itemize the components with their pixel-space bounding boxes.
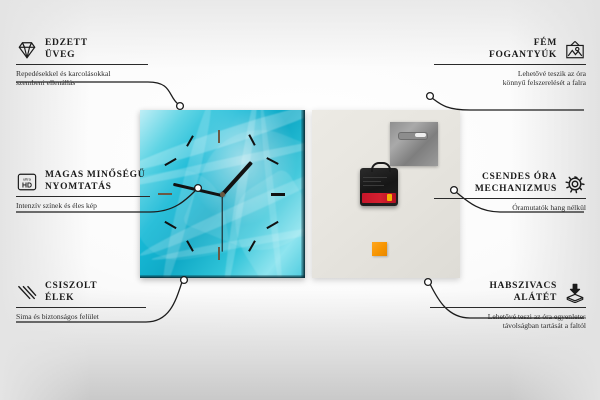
wire-endpoint-dot xyxy=(427,93,434,100)
diamond-icon xyxy=(16,40,38,60)
callout-divider xyxy=(16,196,150,197)
infographic-canvas: EDZETT ÜVEG Repedésekkel és karcolásokka… xyxy=(0,0,600,400)
callout-csendes-ora-mechanizmus: CSENDES ÓRA MECHANIZMUS Óramutatók hang … xyxy=(434,172,586,212)
clock-center-pin xyxy=(220,192,225,197)
callout-divider xyxy=(434,198,586,199)
mechanism-battery-label xyxy=(362,193,396,203)
clock-tick xyxy=(158,193,172,195)
callout-header: ultra HD MAGAS MINŐSÉGŰ NYOMTATÁS xyxy=(16,170,150,193)
callout-title: FÉM FOGANTYÚK xyxy=(489,38,557,61)
callout-description: Lehetővé teszi az óra egyenletes távolsá… xyxy=(430,312,586,331)
svg-text:HD: HD xyxy=(22,182,32,189)
picture-hanger-icon xyxy=(564,40,586,60)
callout-title: CSISZOLT ÉLEK xyxy=(45,281,97,304)
callout-header: CSISZOLT ÉLEK xyxy=(16,281,146,304)
callout-header: EDZETT ÜVEG xyxy=(16,38,148,61)
mechanism-hook xyxy=(371,162,391,172)
wire-endpoint-dot xyxy=(177,103,184,110)
wire-fem-fogantyuk xyxy=(432,98,584,110)
callout-header: HABSZIVACS ALÁTÉT xyxy=(430,281,586,304)
gear-icon xyxy=(564,174,586,194)
callout-magas-minosegu-nyomtatas: ultra HD MAGAS MINŐSÉGŰ NYOMTATÁS Intenz… xyxy=(16,170,150,210)
hanger-slot xyxy=(398,132,428,140)
callout-title: CSENDES ÓRA MECHANIZMUS xyxy=(475,172,557,195)
callout-description: Óramutatók hang nélkül xyxy=(434,203,586,213)
callout-divider xyxy=(434,64,586,65)
callout-edzett-uveg: EDZETT ÜVEG Repedésekkel és karcolásokka… xyxy=(16,38,148,88)
clock-tick xyxy=(271,193,285,196)
callout-description: Intenzív színek és éles kép xyxy=(16,201,150,211)
polished-edges-icon xyxy=(16,283,38,303)
product-photo xyxy=(140,110,460,285)
glass-edge-bottom xyxy=(140,275,305,278)
callout-divider xyxy=(16,307,146,308)
callout-title: MAGAS MINŐSÉGŰ NYOMTATÁS xyxy=(45,170,145,193)
ultra-hd-icon: ultra HD xyxy=(16,172,38,192)
callout-divider xyxy=(430,307,586,308)
callout-description: Lehetővé teszik az óra könnyű felszerelé… xyxy=(434,69,586,88)
svg-text:ultra: ultra xyxy=(23,176,32,181)
callout-header: CSENDES ÓRA MECHANIZMUS xyxy=(434,172,586,195)
callout-header: FÉM FOGANTYÚK xyxy=(434,38,586,61)
callout-habszivacs-alatet: HABSZIVACS ALÁTÉT Lehetővé teszi az óra … xyxy=(430,281,586,331)
foam-pad-part xyxy=(372,242,387,256)
callout-csiszolt-elek: CSISZOLT ÉLEK Sima és biztonságos felüle… xyxy=(16,281,146,321)
callout-title: HABSZIVACS ALÁTÉT xyxy=(489,281,557,304)
clock-tick xyxy=(218,247,220,260)
clock-front-face xyxy=(140,110,305,278)
callout-title: EDZETT ÜVEG xyxy=(45,38,88,61)
metal-hanger-part xyxy=(390,122,438,166)
clock-tick xyxy=(218,130,220,143)
callout-description: Sima és biztonságos felület xyxy=(16,312,146,322)
callout-fem-fogantyuk: FÉM FOGANTYÚK Lehetővé teszik az óra kön… xyxy=(434,38,586,88)
foam-pad-icon xyxy=(564,283,586,303)
callout-divider xyxy=(16,64,148,65)
callout-description: Repedésekkel és karcolásokkal szembeni e… xyxy=(16,69,148,88)
clock-mechanism-part xyxy=(360,168,398,206)
clock-second-hand xyxy=(221,195,222,251)
glass-edge-right xyxy=(301,110,305,278)
